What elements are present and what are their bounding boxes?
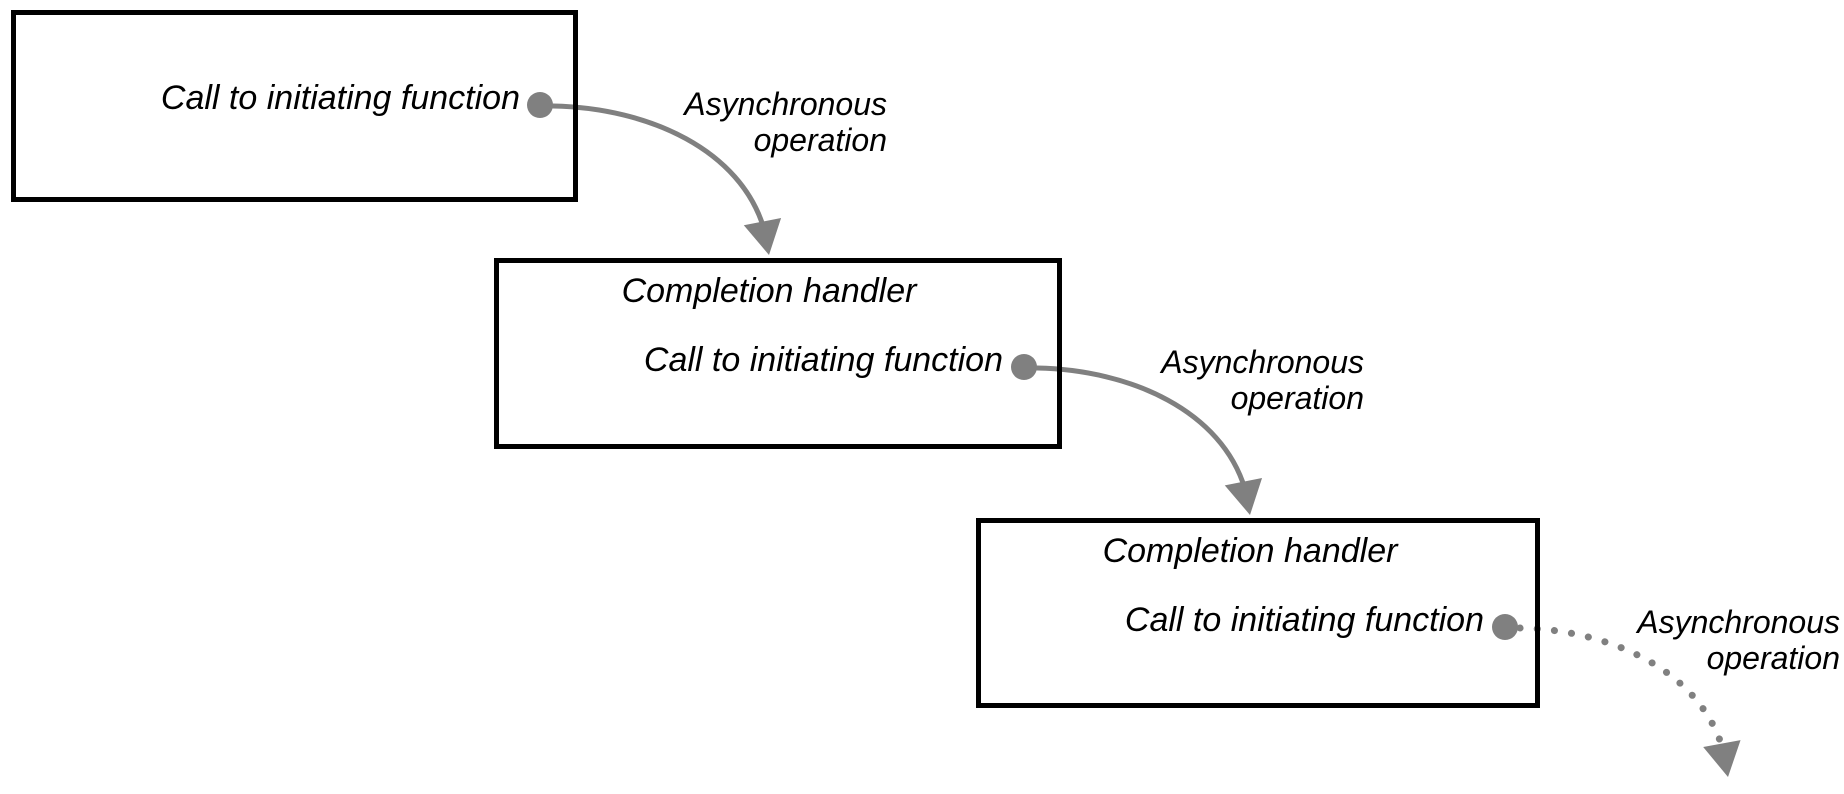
box-3-call-label: Call to initiating function: [0, 603, 1484, 637]
edge-2-arrowhead: [1225, 478, 1262, 515]
edge-3-label-line-1: Asynchronous: [1420, 605, 1840, 641]
edge-3-label-line-2: operation: [1420, 641, 1840, 677]
box-2-call-label: Call to initiating function: [0, 343, 1003, 377]
edge-1-arrowhead: [744, 218, 781, 255]
box-1-call-label: Call to initiating function: [0, 81, 520, 115]
edge-2-label-line-2: operation: [944, 381, 1364, 417]
box-2-header-label: Completion handler: [369, 274, 1169, 308]
box-3-header-label: Completion handler: [850, 534, 1650, 568]
edge-2-label: Asynchronous operation: [944, 345, 1364, 417]
edge-3-arrowhead: [1703, 740, 1740, 777]
edge-1-label: Asynchronous operation: [467, 87, 887, 159]
edge-1-label-line-1: Asynchronous: [467, 87, 887, 123]
edge-1-label-line-2: operation: [467, 123, 887, 159]
edge-2-label-line-1: Asynchronous: [944, 345, 1364, 381]
diagram-canvas: Call to initiating function Completion h…: [0, 0, 1844, 794]
edge-3-label: Asynchronous operation: [1420, 605, 1840, 677]
